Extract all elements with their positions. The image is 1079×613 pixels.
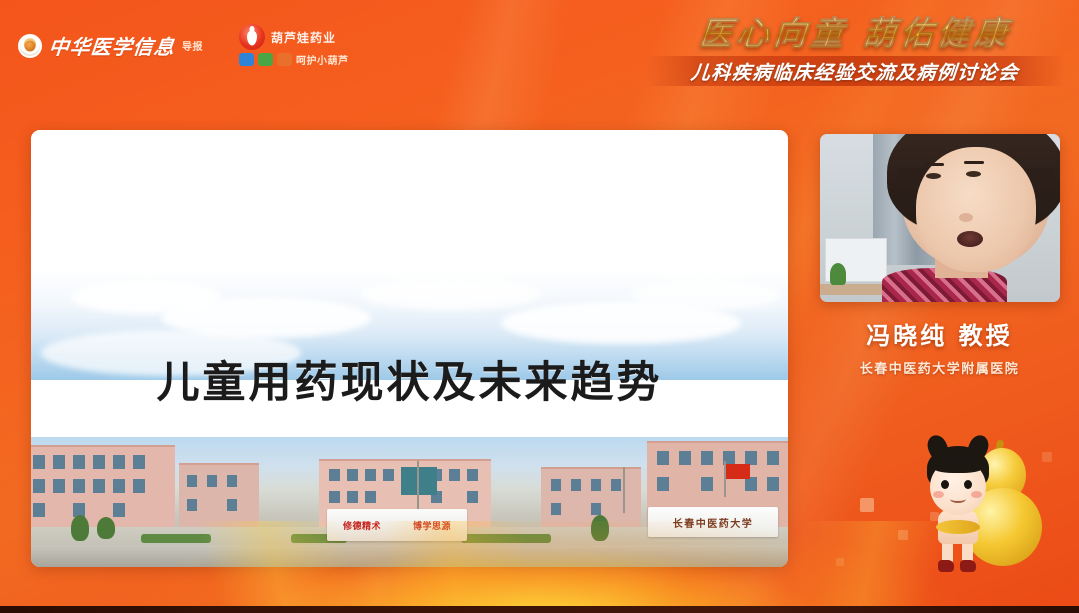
light-particle <box>836 558 844 566</box>
speaker-face <box>916 147 1036 271</box>
mascot-cheek-left <box>933 491 944 498</box>
logo-cma: 中华医学信息 导报 <box>18 31 203 60</box>
mascot-huluwa <box>918 440 1058 590</box>
mascot-bangs <box>932 458 984 473</box>
presentation-slide[interactable]: 儿童用药现状及未来趋势 长春中医药大学附属医院 儿童诊疗中心 长春中医药大学附属… <box>31 130 788 567</box>
slide-sky-background <box>31 130 788 380</box>
campus-gate-sign: 长春中医药大学 <box>648 507 778 537</box>
bottom-edge-bar <box>0 606 1079 613</box>
mascot-leaf-wrap <box>936 520 980 534</box>
campus-photo: 修德精术 博学思源 长春中医药大学 <box>31 437 788 567</box>
logo-huluwa: 葫芦娃药业 呵护小葫芦 <box>239 24 349 67</box>
sponsor-logos: 中华医学信息 导报 葫芦娃药业 呵护小葫芦 <box>18 24 349 67</box>
logo-huluwa-primary: 葫芦娃药业 <box>271 29 336 46</box>
mascot-eye-right <box>964 480 972 489</box>
light-particle <box>898 530 908 540</box>
campus-flag <box>724 464 750 479</box>
event-main-title: 医心向童 葫佑健康 <box>643 16 1066 52</box>
logo-huluwa-bottom: 呵护小葫芦 <box>239 52 349 67</box>
event-banner: 医心向童 葫佑健康 儿科疾病临床经验交流及病例讨论会 <box>645 16 1065 86</box>
gate-sign-text: 长春中医药大学 <box>673 515 754 530</box>
cma-seal-icon <box>18 34 42 58</box>
speaker-nose <box>959 213 973 222</box>
broadcast-stage: 中华医学信息 导报 葫芦娃药业 呵护小葫芦 医心向童 葫佑健康 儿科疾病临床经验… <box>0 0 1079 613</box>
logo-cma-calligraphy: 中华医学信息 <box>47 31 176 60</box>
speaker-name: 冯晓纯 教授 <box>800 316 1079 351</box>
light-particle <box>860 498 874 512</box>
mascot-smile <box>950 495 966 503</box>
event-subtitle-strip: 儿科疾病临床经验交流及病例讨论会 <box>645 56 1065 86</box>
mascot-boy <box>918 446 1002 582</box>
logo-huluwa-top: 葫芦娃药业 <box>239 24 349 50</box>
mascot-eye-left <box>941 480 949 489</box>
chip-icon-green <box>258 53 273 66</box>
stone-sign-right-text: 博学思源 <box>413 519 451 532</box>
mascot-cheek-right <box>971 491 982 498</box>
speaker-info: 冯晓纯 教授 长春中医药大学附属医院 <box>800 316 1079 377</box>
chip-icon-blue <box>239 53 254 66</box>
speaker-video-tile[interactable] <box>820 134 1060 302</box>
speaker-organization: 长春中医药大学附属医院 <box>800 358 1079 377</box>
hulu-drop-icon <box>239 24 265 50</box>
chip-icon-orange <box>277 53 292 66</box>
slide-title: 儿童用药现状及未来趋势 <box>31 348 788 410</box>
campus-road <box>31 545 788 567</box>
logo-cma-suffix: 导报 <box>182 38 203 53</box>
logo-huluwa-secondary: 呵护小葫芦 <box>296 52 349 67</box>
event-subtitle: 儿科疾病临床经验交流及病例讨论会 <box>690 58 1020 85</box>
mascot-shoe-right <box>960 560 976 572</box>
stone-sign-left-text: 修德精术 <box>343 519 381 532</box>
campus-stone-sign: 修德精术 博学思源 <box>327 509 467 541</box>
mascot-shoe-left <box>938 560 954 572</box>
video-background-plant <box>830 263 846 285</box>
